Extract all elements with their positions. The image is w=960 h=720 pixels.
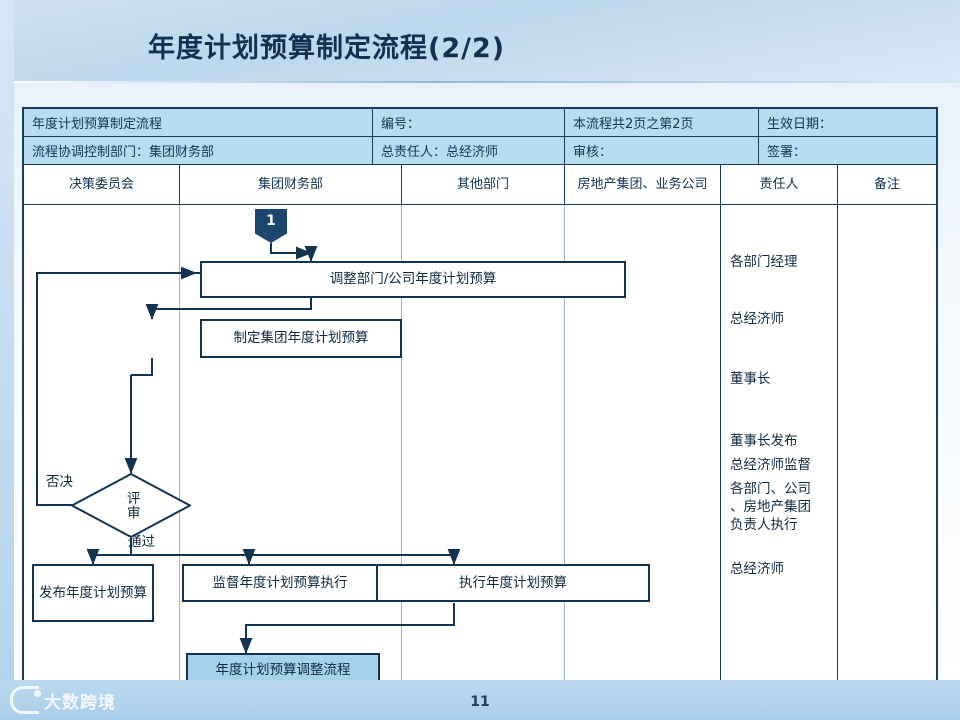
responsible-item-4: 总经济师监督: [730, 457, 811, 475]
process-name-cell: 年度计划预算制定流程: [24, 109, 372, 136]
edge-label-reject: 否决: [46, 470, 73, 490]
column-header-decision-committee: 决策委员会: [24, 165, 179, 204]
process-table: 年度计划预算制定流程 编号： 本流程共2页之第2页 生效日期： 流程协调控制部门…: [22, 107, 938, 682]
responsible-item-0: 各部门经理: [730, 254, 798, 272]
node-review-decision[interactable]: 评审: [71, 473, 191, 538]
page-title: 年度计划预算制定流程(2/2): [148, 26, 505, 65]
column-header-responsible: 责任人: [721, 165, 837, 204]
slide: 年度计划预算制定流程(2/2) 年度计划预算制定流程 编号： 本流程共2页之第2…: [0, 0, 960, 720]
doc-header-row-2: 流程协调控制部门：集团财务部 总责任人：总经济师 审核： 签署：: [24, 137, 936, 165]
doc-header-row-1: 年度计划预算制定流程 编号： 本流程共2页之第2页 生效日期：: [24, 109, 936, 137]
effective-date-cell: 生效日期：: [759, 109, 936, 136]
column-header-remarks: 备注: [838, 165, 936, 204]
swimlane-header-row: 决策委员会 集团财务部 其他部门 房地产集团、业务公司 责任人 备注: [24, 165, 936, 205]
sign-cell: 签署：: [759, 137, 936, 164]
responsible-item-6: 总经济师: [730, 561, 784, 579]
page-of-cell: 本流程共2页之第2页: [565, 109, 758, 136]
node-make-group-budget[interactable]: 制定集团年度计划预算: [200, 319, 402, 358]
node-publish-annual-budget[interactable]: 发布年度计划预算: [32, 564, 154, 622]
left-accent-strip: [0, 0, 14, 720]
edge-label-pass: 通过: [128, 530, 155, 550]
owner-cell: 总责任人：总经济师: [373, 137, 564, 164]
node-adjust-dept-budget[interactable]: 调整部门/公司年度计划预算: [200, 261, 626, 298]
node-execute-annual-budget[interactable]: 执行年度计划预算: [376, 564, 650, 602]
responsible-item-1: 总经济师: [730, 311, 784, 329]
node-supervise-budget-execution[interactable]: 监督年度计划预算执行: [182, 564, 378, 602]
flow-diagram: 1 调整部门/公司年度计划预算 制定集团年度计划预算 评审 否决 通过 发布年度…: [24, 205, 936, 682]
number-label-cell: 编号：: [373, 109, 564, 136]
column-header-group-finance: 集团财务部: [180, 165, 401, 204]
column-header-realestate-group: 房地产集团、业务公司: [565, 165, 720, 204]
responsible-item-5: 各部门、公司 、房地产集团 负责人执行: [730, 481, 811, 534]
coordinating-dept-cell: 流程协调控制部门：集团财务部: [24, 137, 372, 164]
review-cell: 审核：: [565, 137, 758, 164]
responsible-item-2: 董事长: [730, 371, 771, 389]
page-number: 11: [0, 694, 960, 710]
node-review-label: 评审: [71, 473, 191, 538]
slide-footer: 大数跨境 11: [0, 680, 960, 720]
column-header-other-depts: 其他部门: [402, 165, 564, 204]
responsible-item-3: 董事长发布: [730, 433, 798, 451]
